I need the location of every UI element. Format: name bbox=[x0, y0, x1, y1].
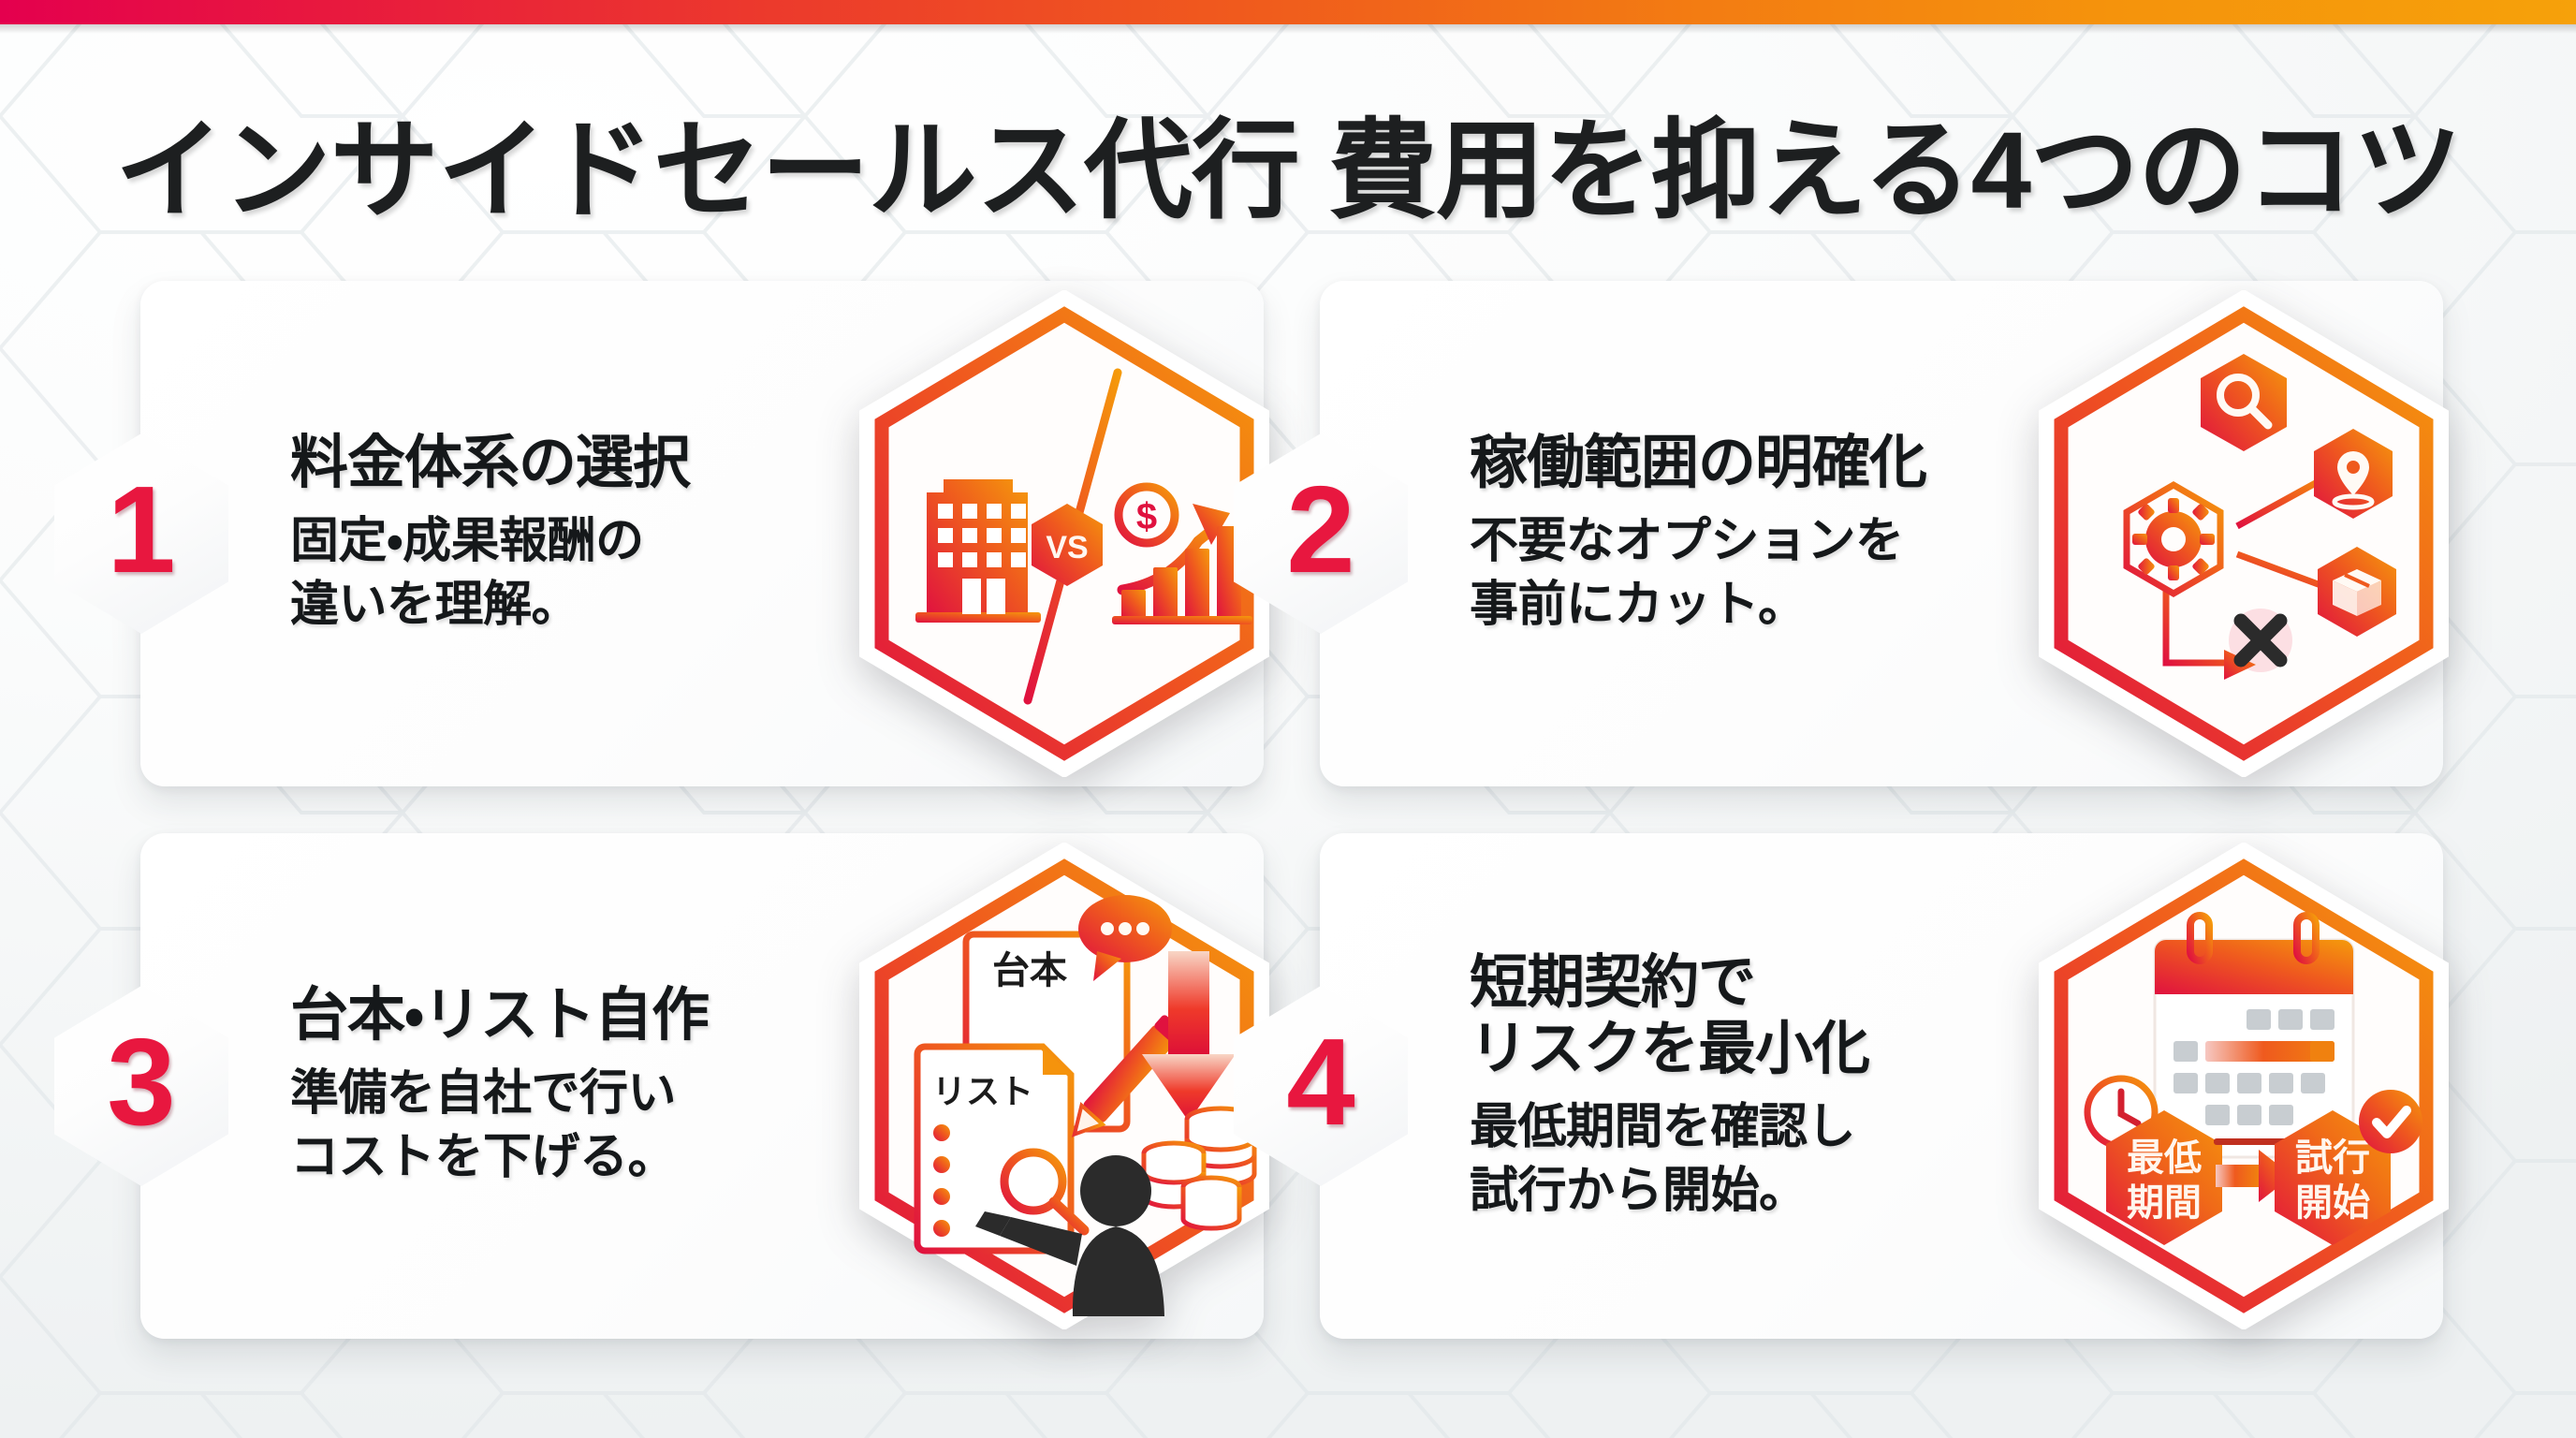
tip-card-1-subtitle: 固定・成果報酬の 違いを理解。 bbox=[290, 510, 690, 637]
tip-card-4-text: 短期契約で リスクを最小化 最低期間を確認し 試行から開始。 bbox=[1470, 949, 1869, 1224]
tip-card-1-text: 料金体系の選択 固定・成果報酬の 違いを理解。 bbox=[290, 430, 690, 637]
svg-text:最低: 最低 bbox=[2127, 1137, 2202, 1179]
svg-text:試行: 試行 bbox=[2295, 1137, 2370, 1179]
svg-text:$: $ bbox=[1136, 496, 1157, 537]
tip-card-2-text: 稼働範囲の明確化 不要なオプションを 事前にカット。 bbox=[1470, 430, 1926, 637]
top-gradient-bar bbox=[0, 0, 2576, 24]
tip-card-4-subtitle: 最低期間を確認し 試行から開始。 bbox=[1470, 1096, 1869, 1223]
tip-card-3-subtitle: 準備を自社で行い コストを下げる。 bbox=[290, 1063, 709, 1189]
script-doc-label: 台本 bbox=[992, 950, 1067, 991]
step-number-3: 3 bbox=[107, 1020, 175, 1144]
self-made-script-list-icon: 台本 リスト bbox=[844, 843, 1284, 1329]
tip-card-3[interactable]: 3 台本・リスト自作 準備を自社で行い コストを下げる。 bbox=[140, 833, 1264, 1339]
svg-text:VS: VS bbox=[1046, 530, 1088, 565]
list-doc-label: リスト bbox=[932, 1072, 1033, 1110]
pricing-comparison-icon: VS $ bbox=[844, 290, 1284, 777]
tip-card-3-text: 台本・リスト自作 準備を自社で行い コストを下げる。 bbox=[290, 982, 709, 1189]
tip-card-2[interactable]: 2 稼働範囲の明確化 不要なオプションを 事前にカット。 bbox=[1320, 281, 2443, 786]
tip-card-1-title: 料金体系の選択 bbox=[290, 430, 690, 497]
scope-network-icon bbox=[2024, 290, 2464, 777]
tip-card-2-title: 稼働範囲の明確化 bbox=[1470, 430, 1926, 497]
svg-text:開始: 開始 bbox=[2295, 1182, 2370, 1224]
tip-card-3-title: 台本・リスト自作 bbox=[290, 982, 709, 1049]
step-number-4: 4 bbox=[1286, 1020, 1354, 1144]
tip-card-1[interactable]: 1 料金体系の選択 固定・成果報酬の 違いを理解。 bbox=[140, 281, 1264, 786]
top-bar-shadow bbox=[0, 24, 2576, 34]
tip-card-4[interactable]: 4 短期契約で リスクを最小化 最低期間を確認し 試行から開始。 bbox=[1320, 833, 2443, 1339]
tip-card-4-title: 短期契約で リスクを最小化 bbox=[1470, 949, 1869, 1084]
svg-text:期間: 期間 bbox=[2127, 1182, 2202, 1224]
tips-grid: 1 料金体系の選択 固定・成果報酬の 違いを理解。 bbox=[140, 281, 2443, 1339]
step-number-2: 2 bbox=[1286, 468, 1354, 592]
step-number-1: 1 bbox=[107, 468, 175, 592]
short-term-contract-icon: 最低 期間 試行 開始 bbox=[2024, 843, 2464, 1329]
page-title: インサイドセールス代行 費用を抑える4つのコツ bbox=[0, 82, 2576, 240]
tip-card-2-subtitle: 不要なオプションを 事前にカット。 bbox=[1470, 510, 1926, 637]
